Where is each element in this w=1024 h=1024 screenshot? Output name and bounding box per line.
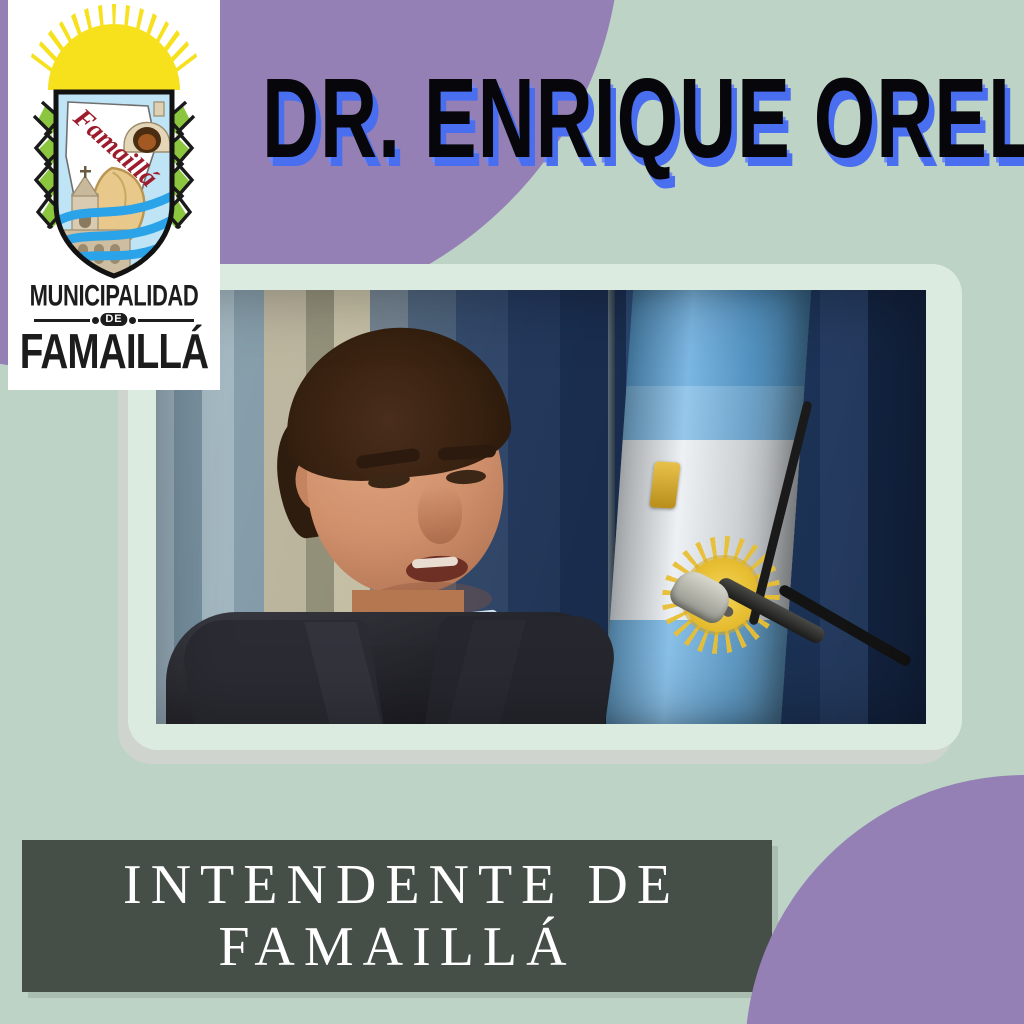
purple-blob-bottom-right <box>745 775 1024 1024</box>
logo-line-famailla: FAMAILLÁ <box>19 328 210 377</box>
logo-rule-dot-right <box>129 317 136 324</box>
title-banner: INTENDENTE DE FAMAILLÁ <box>22 840 772 992</box>
logo-rule-right <box>138 319 194 322</box>
logo-line-municipalidad: MUNICIPALIDAD <box>21 282 208 312</box>
logo-wordmark: MUNICIPALIDAD DE FAMAILLÁ <box>8 284 220 374</box>
sun-icon <box>14 4 214 90</box>
municipality-logo: Famaillá MUNICIPALIDAD DE FAMAILLÁ <box>8 0 220 390</box>
page-title: DR. ENRIQUE ORELLANA <box>262 58 954 179</box>
banner-title-text: INTENDENTE DE FAMAILLÁ <box>114 854 680 978</box>
logo-rule-dot-left <box>92 317 99 324</box>
photo-vignette <box>156 290 926 724</box>
speaker-photo <box>156 290 926 724</box>
logo-rule-left <box>34 319 90 322</box>
poster-canvas: INTENDENTE DE FAMAILLÁ DR. ENRIQUE ORELL… <box>0 0 1024 1024</box>
shield-icon: Famaillá <box>16 86 212 282</box>
